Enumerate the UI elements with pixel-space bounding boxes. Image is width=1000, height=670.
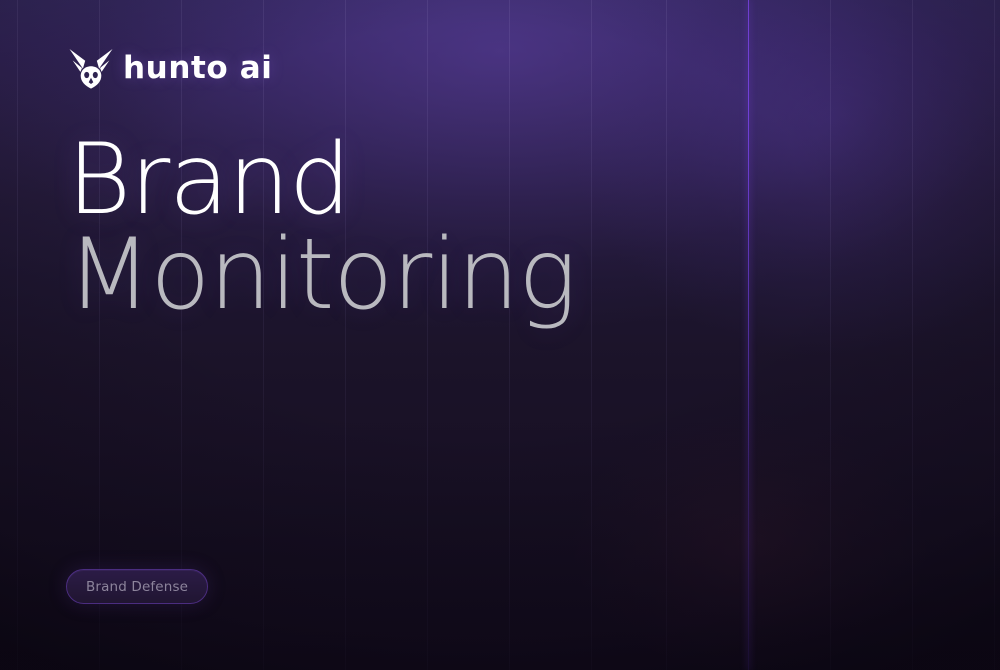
page-title-line-2: Monitoring	[67, 228, 576, 323]
category-badge[interactable]: Brand Defense	[66, 569, 208, 604]
page-title-line-1: Brand	[67, 133, 576, 228]
hero-content: hunto ai Brand Monitoring Brand Defense	[0, 0, 1000, 670]
owl-logo-icon	[68, 46, 114, 90]
category-badge-label: Brand Defense	[86, 579, 188, 595]
brand-wordmark: hunto ai	[123, 53, 272, 84]
page-title: Brand Monitoring	[67, 133, 576, 323]
brand-logo: hunto ai	[68, 46, 272, 90]
brand-monitoring-hero-slide: hunto ai Brand Monitoring Brand Defense	[0, 0, 1000, 670]
